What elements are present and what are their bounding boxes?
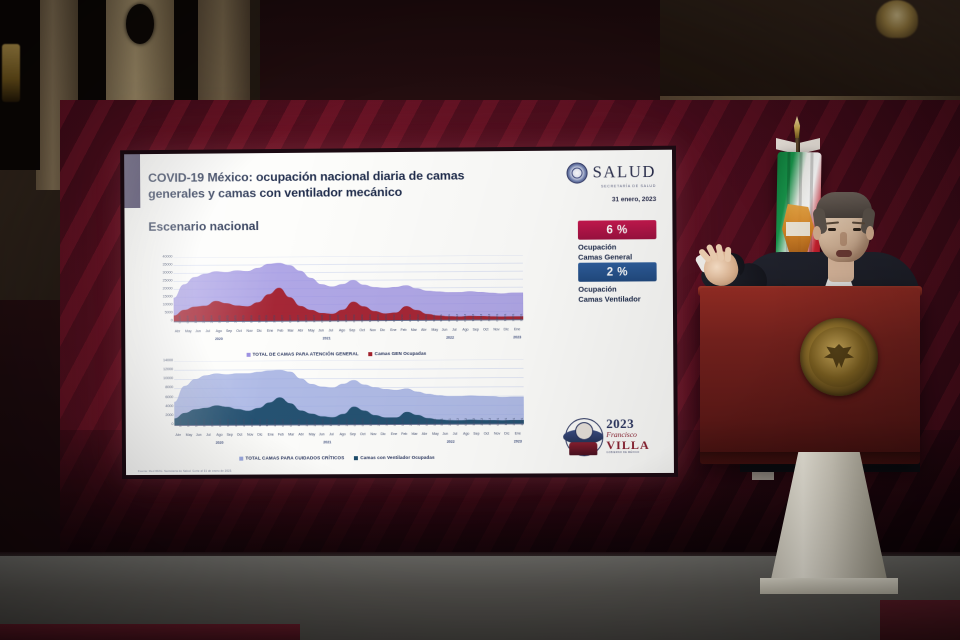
x-tick-label: 09/09 (360, 314, 364, 322)
salud-logo: SALUD SECRETARÍA DE SALUD 31 enero, 2023 (525, 162, 656, 204)
x-year-labels-top: 2020202120222023 (174, 335, 524, 345)
legend-label: Camas con Ventilador Ocupadas (360, 455, 434, 460)
x-month-label: Ene (391, 432, 397, 436)
chart-camas-ventilador: 02000400060008000100001200014000 01/0408… (147, 359, 527, 451)
x-month-label: Jul (329, 432, 333, 436)
x-month-label: Feb (401, 328, 407, 332)
x-month-label: Jun (319, 432, 325, 436)
legend-bottom: TOTAL CAMAS PARA CUIDADOS CRÍTICOSCamas … (148, 454, 527, 461)
x-tick-label: 19/08 (336, 315, 340, 323)
x-tick-label: 24/06 (273, 419, 277, 427)
y-tick-label: 20000 (163, 287, 173, 291)
x-tick-label: 30/12 (488, 418, 492, 426)
y-tick-label: 10000 (163, 303, 173, 307)
x-tick-label: 20/01 (512, 418, 516, 426)
y-tick-label: 25000 (163, 279, 173, 283)
x-month-label: Feb (277, 329, 283, 333)
x-month-label: Mar (288, 329, 294, 333)
x-tick-label: 23/12 (479, 314, 483, 322)
x-tick-label: 27/01 (520, 418, 524, 426)
x-tick-label: 20/05 (234, 419, 238, 427)
x-month-label: Oct (236, 329, 241, 333)
legend-item: Camas GEN Ocupadas (369, 351, 427, 356)
x-month-label: Jun (318, 328, 324, 332)
x-month-label: May (308, 328, 315, 332)
x-tick-label: 02/12 (455, 314, 459, 322)
x-month-label: Abr (298, 329, 303, 333)
x-tick-label: 02/09 (353, 418, 357, 426)
x-tick-label: 15/04 (194, 419, 198, 427)
x-tick-label: 26/08 (345, 418, 349, 426)
x-month-label: Jun (195, 329, 201, 333)
x-month-label: Ago (339, 328, 345, 332)
x-month-label: Abr (175, 433, 180, 437)
x-month-label: Oct (484, 432, 489, 436)
x-month-label: Oct (483, 327, 488, 331)
y-axis-top: 0500010000150002000025000300003500040000 (147, 258, 173, 322)
x-tick-label: 15/04 (193, 315, 197, 323)
x-tick-label: 18/11 (439, 314, 443, 322)
x-year-label: 2023 (514, 439, 522, 443)
x-year-label: 2020 (216, 441, 224, 445)
x-tick-label: 07/10 (392, 314, 396, 322)
x-tick-label: 18/11 (440, 418, 444, 426)
x-tick-label: 16/09 (368, 314, 372, 322)
x-tick-label: 25/11 (448, 418, 452, 426)
x-tick-label: 01/04 (178, 316, 182, 324)
x-year-label: 2023 (513, 335, 521, 339)
speaker-mouth (836, 250, 852, 257)
x-tick-label: 07/10 (392, 418, 396, 426)
wall-lamp-right (876, 0, 918, 38)
x-month-label: Nov (370, 432, 376, 436)
y-tick-label: 35000 (162, 264, 172, 268)
x-month-label: Sep (227, 433, 233, 437)
legend-item: TOTAL DE CAMAS PARA ATENCIÓN GENERAL (247, 351, 359, 357)
x-tick-label: 02/09 (352, 315, 356, 323)
y-tick-label: 4000 (165, 405, 173, 409)
x-tick-label: 01/07 (281, 315, 285, 323)
x-month-label: May (431, 328, 438, 332)
speaker-nose (840, 232, 847, 246)
x-tick-label: 04/11 (424, 418, 428, 426)
slide-date: 31 enero, 2023 (525, 196, 656, 204)
x-tick-label: 15/07 (297, 419, 301, 427)
x-tick-label: 11/11 (432, 419, 436, 426)
x-year-label: 2022 (446, 336, 454, 340)
x-year-label: 2020 (215, 337, 223, 341)
chart-camas-generales: 0500010000150002000025000300003500040000… (147, 255, 527, 347)
x-month-label: May (186, 433, 193, 437)
x-tick-label: 14/10 (400, 314, 404, 322)
salud-tagline: SECRETARÍA DE SALUD (525, 184, 656, 189)
x-month-label: Nov (493, 327, 499, 331)
oval-window (126, 4, 154, 44)
x-tick-label: 16/09 (369, 418, 373, 426)
x-month-label: Jul (206, 433, 210, 437)
x-tick-label: 06/05 (218, 419, 222, 427)
y-tick-label: 14000 (163, 359, 173, 363)
speaker-eye-left (828, 228, 836, 231)
x-tick-label: 29/07 (313, 419, 317, 427)
x-tick-label: 08/07 (289, 419, 293, 427)
x-tick-label: 21/10 (408, 314, 412, 322)
x-month-label: Mar (288, 432, 294, 436)
x-tick-label: 16/12 (471, 314, 475, 322)
x-month-label: Ago (462, 328, 468, 332)
screenshot-root: COVID-19 México: ocupación nacional diar… (0, 0, 960, 640)
x-tick-label: 10/06 (257, 315, 261, 323)
x-month-label: Nov (494, 432, 500, 436)
slide-title: COVID-19 México: ocupación nacional diar… (148, 167, 477, 202)
mexican-national-seal-icon (800, 318, 878, 396)
x-tick-label: 13/05 (226, 419, 230, 427)
x-tick-label: 23/09 (376, 314, 380, 322)
x-month-label: Mar (411, 328, 417, 332)
x-month-label: Abr (175, 329, 180, 333)
x-tick-label: 06/01 (496, 418, 500, 426)
kpi-label-line2: Camas Ventilador (578, 294, 657, 305)
legend-label: TOTAL CAMAS PARA CUIDADOS CRÍTICOS (245, 455, 344, 460)
x-tick-label: 30/09 (384, 314, 388, 322)
x-tick-label: 27/05 (241, 315, 245, 323)
x-tick-label: 05/08 (320, 315, 324, 323)
x-month-label: May (432, 432, 439, 436)
x-month-label: Sep (349, 328, 355, 332)
x-month-label: Nov (247, 433, 253, 437)
legend-top: TOTAL DE CAMAS PARA ATENCIÓN GENERALCama… (147, 350, 526, 357)
x-tick-label: 28/10 (416, 418, 420, 426)
x-tick-label: 23/12 (480, 418, 484, 426)
x-tick-label: 17/06 (265, 315, 269, 323)
y-tick-label: 5000 (165, 311, 173, 315)
x-tick-label: 12/08 (329, 419, 333, 427)
x-tick-label: 15/07 (296, 315, 300, 323)
villa-sublabel: GOBIERNO DE MÉXICO (606, 452, 649, 455)
x-tick-label: 27/05 (242, 419, 246, 427)
x-tick-label: 11/11 (432, 314, 436, 321)
speaker-ear-left (813, 226, 821, 240)
x-tick-label: 27/01 (519, 313, 523, 321)
floor-runner-left (0, 624, 300, 640)
x-month-label: Jun (196, 433, 202, 437)
x-tick-label: 09/09 (361, 418, 365, 426)
x-month-label: Ene (515, 431, 521, 435)
x-month-label: Sep (350, 432, 356, 436)
villa-year: 2023 (606, 417, 649, 430)
x-month-label: Nov (246, 329, 252, 333)
x-month-label: Sep (226, 329, 232, 333)
y-tick-label: 40000 (162, 256, 172, 260)
slide-accent-bar (124, 154, 140, 208)
x-tick-label: 08/04 (186, 316, 190, 324)
x-tick-label: 03/06 (249, 315, 253, 323)
x-tick-label: 22/07 (304, 315, 308, 323)
y-tick-label: 2000 (165, 414, 173, 418)
x-tick-label: 13/05 (225, 315, 229, 323)
x-month-label: Jun (442, 328, 448, 332)
kpi-value: 2 % (578, 262, 657, 282)
x-tick-label: 16/12 (472, 418, 476, 426)
floor-runner-right (880, 600, 960, 640)
podium-plinth (760, 578, 898, 594)
y-tick-label: 10000 (163, 377, 173, 381)
x-month-label: Jul (453, 432, 458, 436)
x-tick-label: 24/06 (273, 315, 277, 323)
francisco-villa-logo: 2023 Francisco VILLA GOBIERNO DE MÉXICO (563, 415, 660, 458)
kpi-value: 6 % (578, 220, 657, 240)
speaker-eye-right (853, 228, 861, 231)
kpi-label: Ocupación Camas General (578, 242, 657, 263)
x-month-label: Jul (329, 328, 333, 332)
legend-label: TOTAL DE CAMAS PARA ATENCIÓN GENERAL (253, 351, 359, 357)
legend-item: Camas con Ventilador Ocupadas (354, 455, 434, 460)
x-tick-label: 09/12 (464, 418, 468, 426)
plot-area-bottom (174, 359, 524, 425)
x-month-label: Abr (422, 432, 427, 436)
x-month-label: Ago (216, 433, 222, 437)
x-tick-label: 25/11 (447, 314, 451, 322)
x-month-label: Sep (473, 328, 479, 332)
presentation-slide: COVID-19 México: ocupación nacional diar… (124, 150, 674, 475)
x-month-label: Dic (257, 433, 262, 437)
x-month-label: Feb (401, 432, 407, 436)
x-tick-label: 01/04 (178, 419, 182, 427)
x-month-label: Abr (421, 328, 426, 332)
x-tick-label: 20/01 (511, 314, 515, 322)
projection-screen: COVID-19 México: ocupación nacional diar… (120, 146, 678, 479)
salud-wordmark: SALUD (593, 164, 656, 181)
x-month-label: Ene (268, 433, 274, 437)
x-tick-label: 17/06 (265, 419, 269, 427)
kpi-label-line2: Camas General (578, 252, 657, 263)
kpi-camas-general: 6 % Ocupación Camas General (578, 220, 657, 263)
legend-swatch (247, 353, 251, 357)
kpi-camas-ventilador: 2 % Ocupación Camas Ventilador (578, 262, 657, 305)
x-month-label: Ago (339, 432, 345, 436)
x-tick-label: 01/07 (281, 419, 285, 427)
speaker-finger (725, 247, 732, 262)
x-month-label: Dic (504, 432, 509, 436)
legend-swatch (354, 456, 358, 460)
x-tick-label: 29/07 (312, 315, 316, 323)
x-year-label: 2021 (323, 336, 331, 340)
x-tick-label: 22/04 (202, 419, 206, 427)
speaker-ear-right (866, 226, 874, 240)
x-tick-label: 08/04 (186, 419, 190, 427)
x-month-label: Ago (216, 329, 222, 333)
x-tick-label: 03/06 (250, 419, 254, 427)
x-month-label: Jul (206, 329, 210, 333)
x-tick-label: 06/05 (217, 315, 221, 323)
villa-portrait-icon (563, 416, 603, 456)
x-month-label: Feb (278, 433, 284, 437)
x-tick-label: 10/06 (257, 419, 261, 427)
x-year-label: 2022 (447, 440, 455, 444)
x-tick-label: 30/12 (487, 314, 491, 322)
x-month-label: Dic (381, 432, 386, 436)
x-month-label: Dic (504, 327, 509, 331)
x-month-label: May (309, 432, 316, 436)
x-month-label: Ene (267, 329, 273, 333)
x-month-label: Oct (360, 432, 365, 436)
x-tick-label: 08/07 (289, 315, 293, 323)
kpi-label: Ocupación Camas Ventilador (578, 284, 657, 305)
x-tick-label: 09/12 (463, 314, 467, 322)
x-tick-label: 22/04 (201, 315, 205, 323)
y-tick-label: 0 (171, 319, 173, 323)
x-month-label: Mar (411, 432, 417, 436)
x-tick-label: 13/01 (504, 418, 508, 426)
slide-subtitle: Escenario nacional (148, 219, 259, 234)
y-axis-bottom: 02000400060008000100001200014000 (147, 361, 173, 425)
plot-area-top (173, 255, 523, 321)
kpi-label-line1: Ocupación (578, 242, 657, 253)
x-month-label: Ene (390, 328, 396, 332)
x-tick-label: 04/11 (424, 314, 428, 322)
x-tick-label: 19/08 (337, 419, 341, 427)
legend-swatch (369, 352, 373, 356)
x-month-label: Oct (359, 328, 364, 332)
x-month-label: May (185, 329, 192, 333)
y-tick-label: 12000 (163, 368, 173, 372)
y-tick-label: 30000 (163, 272, 173, 276)
legend-swatch (239, 456, 243, 460)
x-tick-label: 14/10 (400, 418, 404, 426)
x-tick-label: 28/10 (416, 314, 420, 322)
x-month-label: Dic (380, 328, 385, 332)
x-tick-label: 30/09 (384, 418, 388, 426)
x-year-label: 2021 (323, 440, 331, 444)
y-tick-label: 8000 (165, 387, 173, 391)
x-month-label: Nov (370, 328, 376, 332)
x-tick-label: 06/01 (495, 314, 499, 322)
legend-item: TOTAL CAMAS PARA CUIDADOS CRÍTICOS (239, 455, 344, 460)
x-month-label: Jul (452, 328, 457, 332)
x-month-label: Abr (298, 432, 303, 436)
x-tick-label: 05/08 (321, 419, 325, 427)
x-month-label: Ene (514, 327, 520, 331)
x-tick-label: 02/12 (456, 418, 460, 426)
x-tick-label: 12/08 (328, 315, 332, 323)
x-tick-label: 29/04 (210, 419, 214, 427)
y-tick-label: 15000 (163, 295, 173, 299)
y-tick-label: 0 (171, 423, 173, 427)
villa-name-line2: VILLA (606, 439, 649, 451)
x-tick-label: 13/01 (503, 314, 507, 322)
x-tick-label: 29/04 (209, 315, 213, 323)
x-month-label: Oct (237, 433, 242, 437)
x-year-labels-bottom: 2020202120222023 (175, 439, 525, 449)
kpi-label-line1: Ocupación (578, 284, 657, 295)
flag-sash-band (786, 222, 810, 236)
y-tick-label: 6000 (165, 396, 173, 400)
x-month-label: Jun (442, 432, 448, 436)
x-month-label: Dic (257, 329, 262, 333)
slide-footer: Fuente: Red IRAG. Secretaría de Salud. C… (138, 467, 557, 473)
wall-lamp-left (2, 44, 20, 102)
x-tick-label: 21/10 (408, 418, 412, 426)
legend-label: Camas GEN Ocupadas (375, 351, 427, 356)
x-tick-label: 22/07 (305, 419, 309, 427)
x-tick-label: 23/09 (376, 418, 380, 426)
x-tick-label: 26/08 (344, 315, 348, 323)
government-seal-icon (566, 162, 587, 183)
x-month-label: Ago (463, 432, 469, 436)
x-tick-label: 20/05 (233, 315, 237, 323)
x-month-label: Sep (473, 432, 479, 436)
